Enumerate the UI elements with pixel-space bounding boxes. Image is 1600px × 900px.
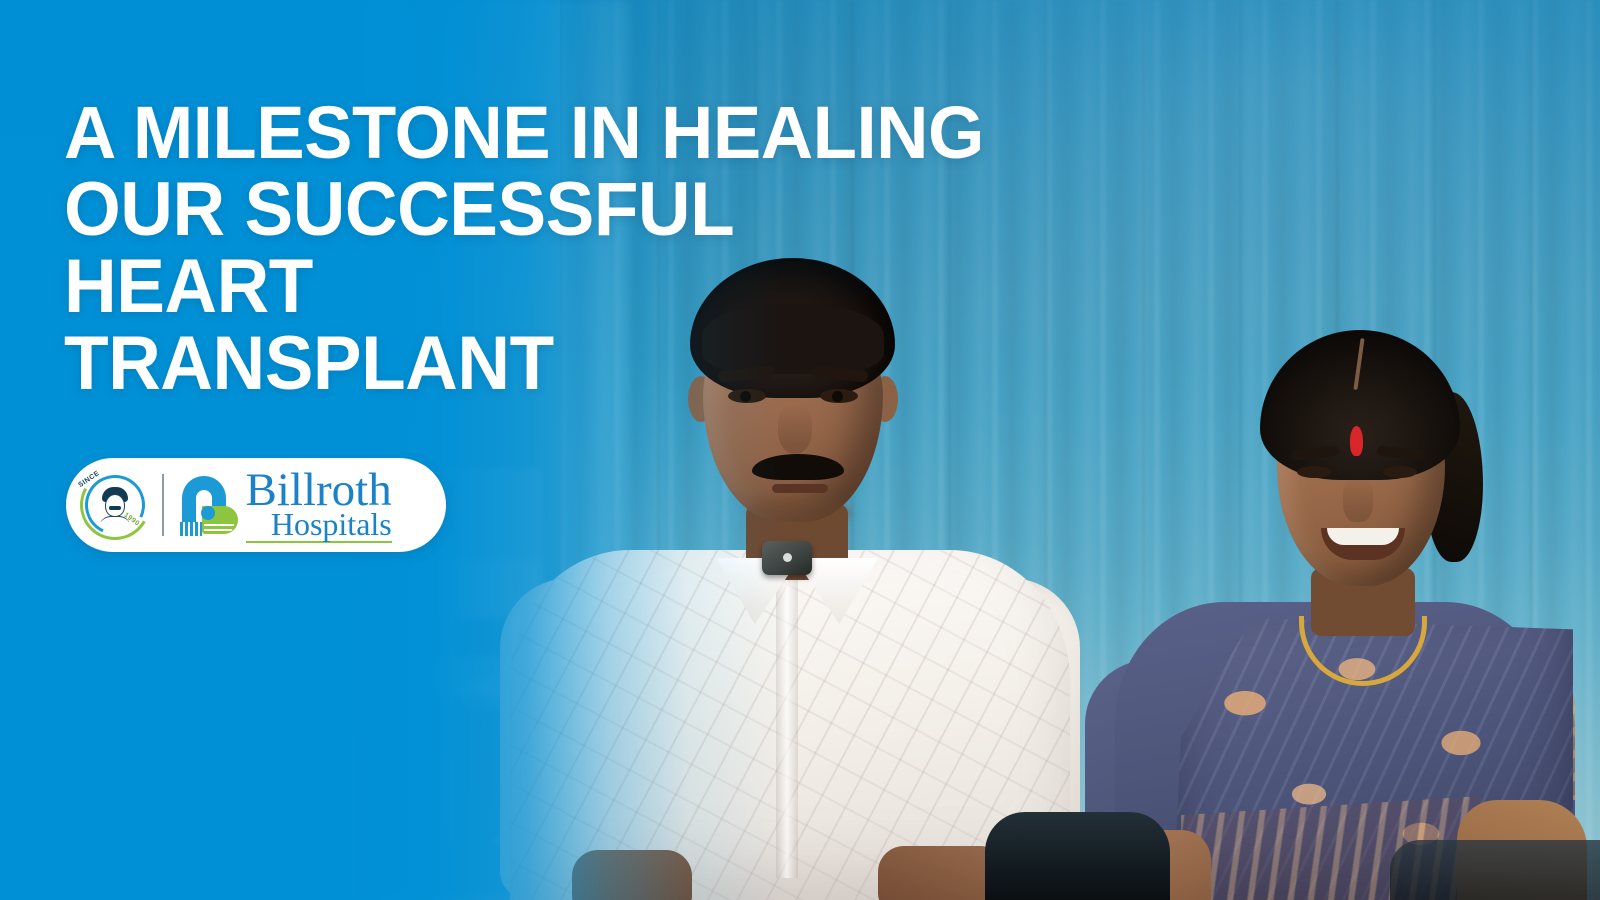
billroth-hand-mark-icon — [176, 472, 238, 538]
headline-block: A MILESTONE IN HEALING OUR SUCCESSFUL HE… — [64, 98, 1003, 400]
founder-portrait-emblem-icon: SINCE 1990 — [78, 468, 152, 542]
logo-divider — [162, 474, 164, 536]
logo-wordmark: Billroth Hospitals — [246, 467, 392, 543]
headline-line-1: A MILESTONE IN HEALING — [64, 98, 984, 168]
headline-line-4: TRANSPLANT — [64, 328, 965, 399]
emblem-year-label: 1990 — [116, 512, 154, 547]
headline-line-2: OUR SUCCESSFUL — [64, 174, 965, 245]
headline-line-3: HEART — [64, 251, 965, 322]
billroth-hospitals-logo[interactable]: SINCE 1990 Billroth Hospitals — [66, 458, 446, 552]
hero-banner: A MILESTONE IN HEALING OUR SUCCESSFUL HE… — [0, 0, 1600, 900]
